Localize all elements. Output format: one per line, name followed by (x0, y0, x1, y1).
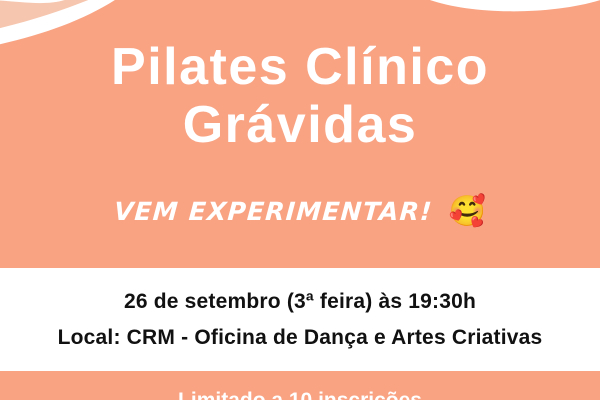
poster-canvas: Pilates Clínico Grávidas VEM EXPERIMENTA… (0, 0, 600, 400)
poster-subtitle: VEM EXPERIMENTAR! 🥰 (0, 197, 600, 227)
footer-strip: Limitado a 10 inscrições (0, 371, 600, 400)
title-line-2: Grávidas (0, 96, 600, 154)
footer-clipped-line: Limitado a 10 inscrições (0, 388, 600, 400)
event-date-line: 26 de setembro (3ª feira) às 19:30h (124, 289, 476, 315)
event-location-line: Local: CRM - Oficina de Dança e Artes Cr… (58, 325, 543, 351)
details-band: 26 de setembro (3ª feira) às 19:30h Loca… (0, 268, 600, 371)
subtitle-text: VEM EXPERIMENTAR! (113, 197, 434, 227)
smiling-face-with-hearts-emoji: 🥰 (449, 197, 486, 227)
poster-title: Pilates Clínico Grávidas (0, 38, 600, 154)
title-line-1: Pilates Clínico (0, 38, 600, 96)
